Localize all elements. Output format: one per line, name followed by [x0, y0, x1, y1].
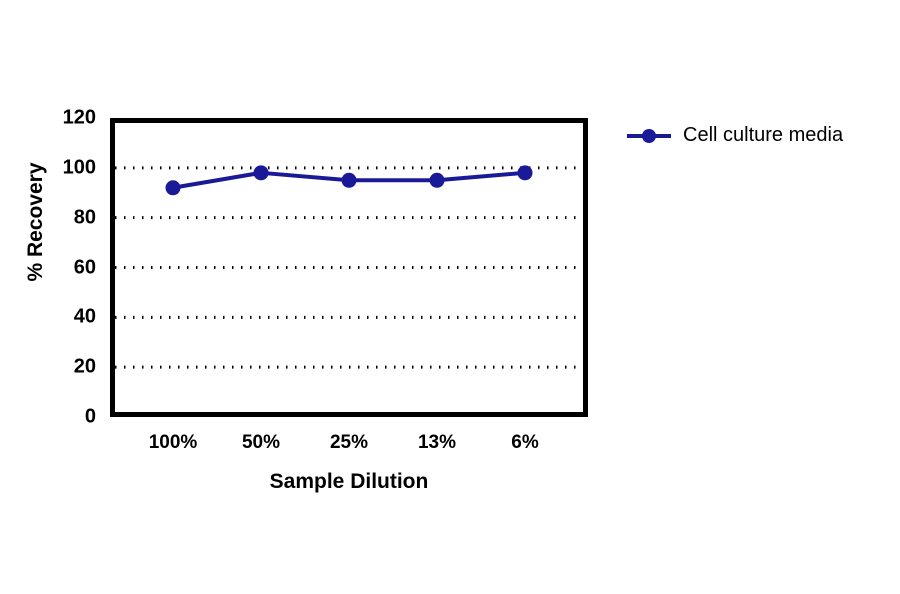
data-point — [430, 173, 445, 188]
plot-svg — [110, 118, 588, 417]
y-tick-label: 20 — [26, 356, 96, 379]
legend-item-cell-culture-media[interactable]: Cell culture media — [626, 124, 843, 147]
data-point — [166, 180, 181, 195]
data-point — [518, 165, 533, 180]
x-axis-tick-labels: 100%50%25%13%6% — [110, 432, 588, 462]
gridlines — [115, 168, 583, 367]
plot-area — [110, 118, 588, 417]
y-tick-label: 120 — [26, 107, 96, 130]
y-axis-tick-labels: 020406080100120 — [22, 118, 96, 417]
x-tick-label: 6% — [470, 432, 580, 454]
chart-legend: Cell culture media — [626, 124, 843, 147]
y-tick-label: 40 — [26, 306, 96, 329]
legend-dot — [642, 129, 656, 143]
x-axis-title: Sample Dilution — [110, 470, 588, 494]
data-point — [254, 165, 269, 180]
y-tick-label: 100 — [26, 156, 96, 179]
series-cell-culture-media — [166, 165, 533, 195]
legend-marker-icon — [626, 127, 672, 145]
y-tick-label: 80 — [26, 206, 96, 229]
data-point — [342, 173, 357, 188]
y-tick-label: 60 — [26, 256, 96, 279]
legend-item-label: Cell culture media — [683, 124, 843, 147]
y-tick-label: 0 — [26, 406, 96, 429]
chart-figure: % Recovery 020406080100120 10 — [0, 0, 900, 594]
